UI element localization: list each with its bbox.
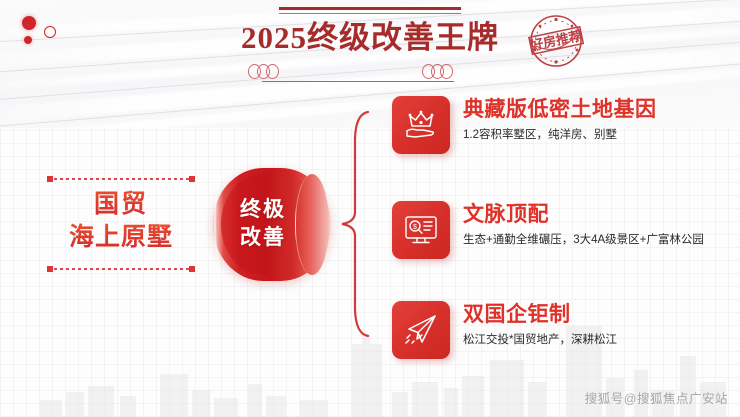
cylinder-label-line1: 终极 [213, 196, 313, 224]
feature-item[interactable]: $ 文脉顶配 生态+通勤全维碾压，3大4A级景区+广富林公园 [392, 201, 736, 263]
page-title: 2025终级改善王牌 [0, 18, 740, 58]
project-name-text: 国贸 海上原墅 [48, 188, 194, 254]
recommended-stamp-icon: 好房推荐 [516, 6, 596, 76]
corner-cap [189, 266, 195, 272]
feature-item[interactable]: 典藏版低密土地基因 1.2容积率墅区，纯洋房、别墅 [392, 96, 736, 158]
watermark: 搜狐号@搜狐焦点广安站 [585, 388, 728, 407]
feature-title: 文脉顶配 [463, 201, 736, 229]
feature-text: 典藏版低密土地基因 1.2容积率墅区，纯洋房、别墅 [463, 96, 736, 145]
curly-brace-connector [338, 108, 372, 340]
cylinder-graphic: 终极 改善 [213, 168, 331, 281]
project-name-line2: 海上原墅 [48, 221, 194, 254]
feature-title: 双国企钜制 [463, 301, 736, 329]
dotted-line-bottom [48, 268, 194, 270]
feature-text: 双国企钜制 松江交投*国贸地产，深耕松江 [463, 301, 736, 350]
corner-cap [47, 176, 53, 182]
divider-line [262, 81, 454, 82]
feature-text: 文脉顶配 生态+通勤全维碾压，3大4A级景区+广富林公园 [463, 201, 736, 250]
cylinder-label: 终极 改善 [213, 196, 313, 252]
feature-title: 典藏版低密土地基因 [463, 96, 736, 124]
triple-ring-icon [248, 64, 292, 80]
project-name-box: 国贸 海上原墅 [48, 178, 194, 270]
corner-cap [47, 266, 53, 272]
monitor-chart-icon: $ [392, 201, 450, 259]
crown-in-hand-icon [392, 96, 450, 154]
title-rule-thin [279, 13, 461, 14]
title-block: 2025终级改善王牌 [0, 2, 740, 58]
project-name-line1: 国贸 [48, 188, 194, 221]
feature-subtitle: 松江交投*国贸地产，深耕松江 [463, 331, 736, 350]
dotted-line-top [48, 178, 194, 180]
feature-subtitle: 1.2容积率墅区，纯洋房、别墅 [463, 126, 736, 145]
ornament-divider [252, 62, 464, 86]
feature-item[interactable]: 双国企钜制 松江交投*国贸地产，深耕松江 [392, 301, 736, 363]
paper-plane-icon [392, 301, 450, 359]
triple-ring-icon [422, 64, 466, 80]
poster-canvas: 2025终级改善王牌 好房推荐 [0, 0, 740, 417]
cylinder-label-line2: 改善 [213, 224, 313, 252]
corner-cap [189, 176, 195, 182]
feature-subtitle: 生态+通勤全维碾压，3大4A级景区+广富林公园 [463, 231, 736, 250]
title-rule-thick [279, 7, 461, 10]
svg-text:$: $ [413, 224, 417, 231]
